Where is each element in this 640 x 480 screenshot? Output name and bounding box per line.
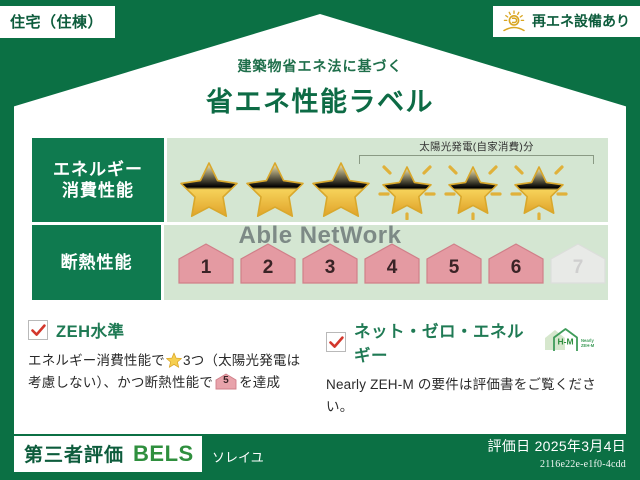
label-title-block: 建築物省エネ法に基づく 省エネ性能ラベル	[0, 56, 640, 119]
insulation-performance-label-cell: 断熱性能	[32, 225, 161, 300]
checkbox-checked-icon	[326, 332, 346, 352]
insulation-grade-value: 2	[263, 258, 274, 284]
solar-note-text: 太陽光発電(自家消費)分	[359, 141, 594, 153]
insulation-performance-row: 断熱性能 1 2 3	[32, 225, 608, 300]
insulation-grade-value: 6	[511, 258, 522, 284]
building-name: ソレイユ	[212, 447, 264, 466]
insulation-grade-badge: 5	[424, 242, 484, 284]
note-zeh-body-post: を達成	[239, 375, 280, 390]
note-zeh-header: ZEH水準	[28, 318, 306, 342]
energy-performance-row: エネルギー 消費性能 太陽光発電(自家消費)分	[32, 138, 608, 222]
insulation-grade-value: 3	[325, 258, 336, 284]
insulation-performance-value-cell: 1 2 3 4 5	[164, 225, 608, 300]
evaluation-date-label: 評価日	[487, 438, 530, 454]
star-solar-icon	[375, 158, 439, 220]
svg-text:H-M: H-M	[557, 336, 573, 346]
notes-section: ZEH水準 エネルギー消費性能で3つ（太陽光発電は考慮しない）、かつ断熱性能で5…	[28, 318, 612, 419]
page-title: 省エネ性能ラベル	[0, 80, 640, 119]
insulation-grade-value: 5	[449, 258, 460, 284]
renewable-equipment-tag: 再エネ設備あり	[493, 6, 640, 37]
label-subtitle: 建築物省エネ法に基づく	[0, 56, 640, 76]
checkbox-checked-icon	[28, 320, 48, 340]
bels-badge: 第三者評価 BELS	[14, 436, 202, 472]
energy-performance-label-cell: エネルギー 消費性能	[32, 138, 164, 222]
building-type-tag: 住宅（住棟）	[0, 6, 115, 38]
note-zeh-standard: ZEH水準 エネルギー消費性能で3つ（太陽光発電は考慮しない）、かつ断熱性能で5…	[28, 318, 320, 419]
sun-renewable-icon	[501, 10, 527, 32]
bels-en-label: BELS	[133, 441, 194, 467]
insulation-grade-badge-inline: 5	[215, 373, 237, 390]
insulation-grade-badge: 3	[300, 242, 360, 284]
note-zeh-body-pre: エネルギー消費性能で	[28, 353, 165, 368]
evaluation-date: 評価日 2025年3月4日	[487, 436, 626, 456]
insulation-grade-badge-inactive: 7	[548, 242, 608, 284]
note-nze-header: ネット・ゼロ・エネルギー H-M Nearly ZEH-M	[326, 318, 598, 366]
evaluation-id: 2116e22e-e1f0-4cdd	[487, 459, 626, 470]
insulation-grade-badge: 6	[486, 242, 546, 284]
insulation-grade-value: 7	[573, 258, 584, 284]
svg-text:ZEH-M: ZEH-M	[581, 343, 595, 348]
insulation-grade-scale: 1 2 3 4 5	[164, 242, 608, 284]
star-icon	[177, 158, 241, 220]
note-zeh-title: ZEH水準	[56, 318, 125, 342]
renewable-equipment-label: 再エネ設備あり	[532, 11, 630, 31]
star-solar-icon	[507, 158, 571, 220]
note-net-zero-energy: ネット・ゼロ・エネルギー H-M Nearly ZEH-M Nearly ZEH…	[320, 318, 612, 419]
star-icon-inline	[166, 352, 182, 368]
insulation-label-line1: 断熱性能	[61, 252, 133, 273]
energy-label-line2: 消費性能	[62, 180, 134, 201]
energy-performance-label: 住宅（住棟） 再エネ設備あり 建築物省エネ法に基づく	[0, 0, 640, 480]
zeh-m-house-icon: H-M Nearly ZEH-M	[538, 326, 598, 359]
building-type-label: 住宅（住棟）	[10, 14, 103, 31]
insulation-grade-value: 4	[387, 258, 398, 284]
star-icon	[243, 158, 307, 220]
insulation-grade-inline-value: 5	[215, 373, 237, 390]
note-nze-body: Nearly ZEH-M の要件は評価書をご覧ください。	[326, 374, 598, 419]
energy-label-line1: エネルギー	[53, 159, 143, 180]
evaluation-date-value: 2025年3月4日	[535, 438, 626, 454]
star-icon	[309, 158, 373, 220]
insulation-grade-badge: 2	[238, 242, 298, 284]
insulation-grade-badge: 4	[362, 242, 422, 284]
star-solar-icon	[441, 158, 505, 220]
note-zeh-body: エネルギー消費性能で3つ（太陽光発電は考慮しない）、かつ断熱性能で5を達成	[28, 350, 306, 395]
evaluation-info: 評価日 2025年3月4日 2116e22e-e1f0-4cdd	[487, 436, 626, 470]
ratings-card: エネルギー 消費性能 太陽光発電(自家消費)分	[32, 138, 608, 300]
insulation-grade-badge: 1	[176, 242, 236, 284]
note-nze-title: ネット・ゼロ・エネルギー	[354, 318, 530, 366]
bels-jp-label: 第三者評価	[24, 440, 124, 467]
energy-performance-value-cell: 太陽光発電(自家消費)分	[167, 138, 608, 222]
insulation-grade-value: 1	[201, 258, 212, 284]
